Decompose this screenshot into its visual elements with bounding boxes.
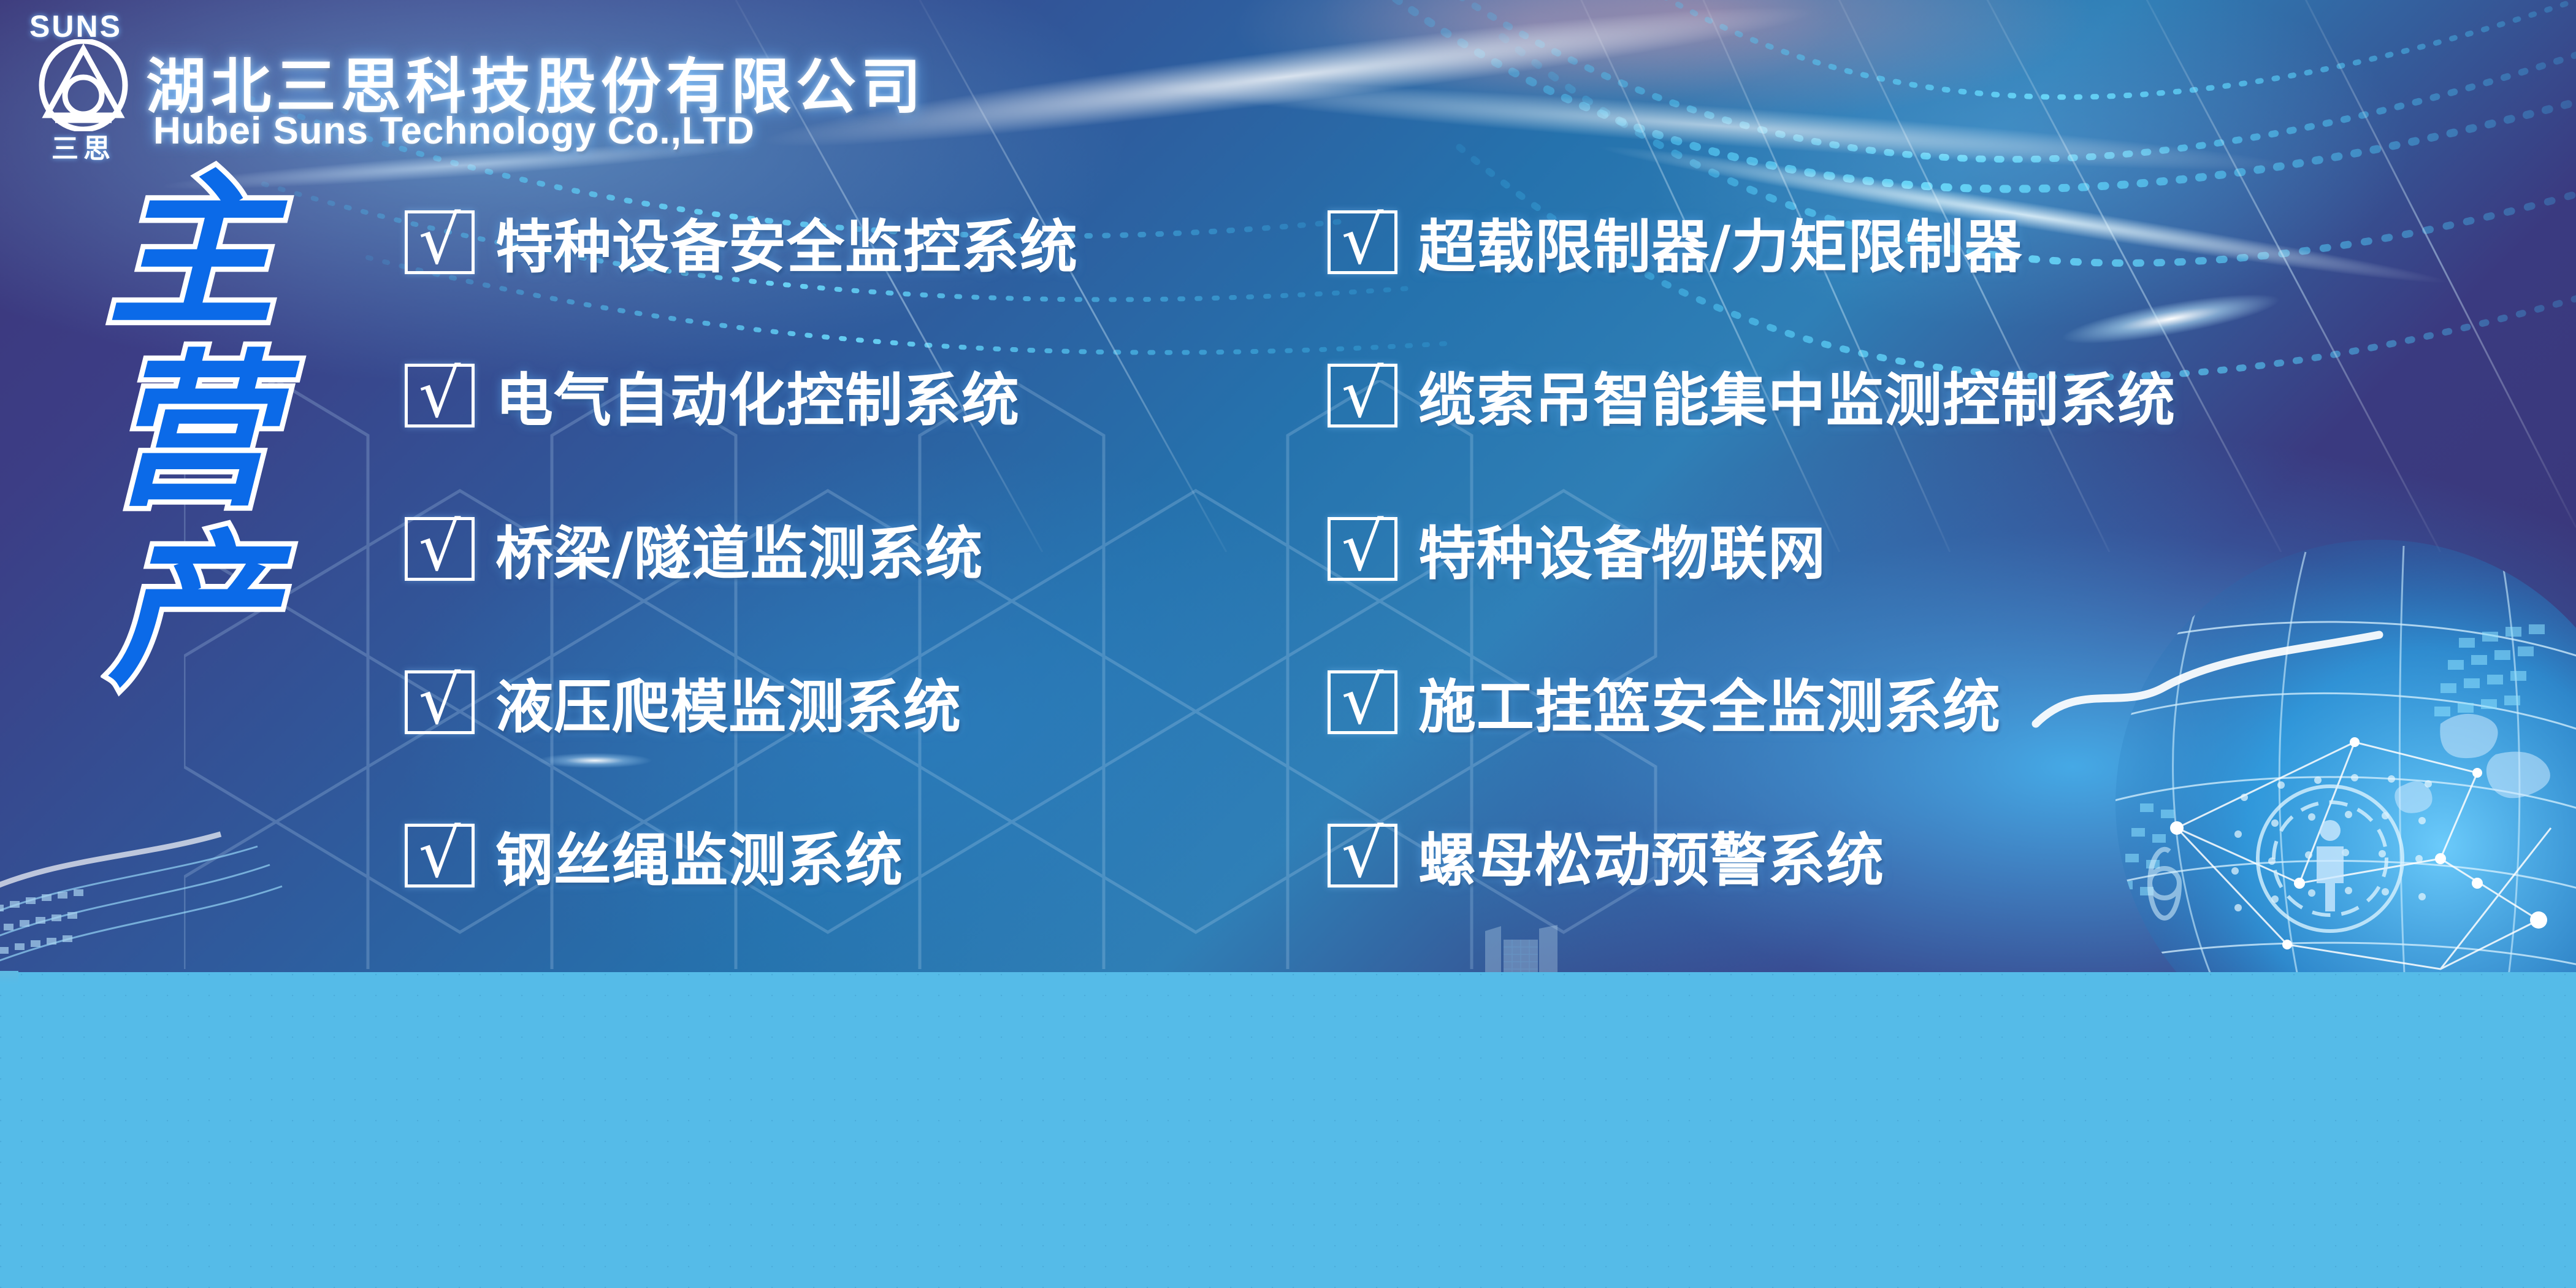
checkbox-checked-icon[interactable]: √ xyxy=(1328,517,1397,581)
list-item[interactable]: √ 螺母松动预警系统 xyxy=(1328,816,2176,895)
check-glyph: √ xyxy=(419,668,461,734)
product-label: 特种设备物联网 xyxy=(1418,507,1826,591)
product-label: 钢丝绳监测系统 xyxy=(495,814,903,897)
product-label: 缆索吊智能集中监测控制系统 xyxy=(1418,354,2176,437)
checkbox-checked-icon[interactable]: √ xyxy=(1328,364,1397,427)
list-item[interactable]: √ 特种设备物联网 xyxy=(1328,509,2176,589)
list-item[interactable]: √ 电气自动化控制系统 xyxy=(405,356,1078,435)
banner-page: SUNS 三思 湖北三思科技股份有限公司 Hubei Suns Technolo… xyxy=(0,0,2576,1288)
headline-char-3: 产 xyxy=(108,532,365,692)
check-glyph: √ xyxy=(1342,208,1384,274)
checkbox-checked-icon[interactable]: √ xyxy=(405,824,475,887)
product-label: 液压爬模监测系统 xyxy=(495,661,961,744)
check-glyph: √ xyxy=(419,361,461,427)
check-glyph: √ xyxy=(1342,668,1384,734)
list-item[interactable]: √ 超载限制器/力矩限制器 xyxy=(1328,202,2176,282)
list-item[interactable]: √ 特种设备安全监控系统 xyxy=(405,202,1078,282)
product-list-right: √ 超载限制器/力矩限制器 √ 缆索吊智能集中监测控制系统 √ 特种设备物联网 … xyxy=(1328,202,2176,969)
check-glyph: √ xyxy=(1342,515,1384,581)
checkbox-checked-icon[interactable]: √ xyxy=(1328,824,1397,887)
headline-vertical: 主 营 产 xyxy=(108,173,365,692)
checkbox-checked-icon[interactable]: √ xyxy=(405,670,475,734)
headline-char-2: 营 xyxy=(108,353,365,513)
checkbox-checked-icon[interactable]: √ xyxy=(1328,670,1397,734)
checkbox-checked-icon[interactable]: √ xyxy=(405,364,475,427)
hero-banner: SUNS 三思 湖北三思科技股份有限公司 Hubei Suns Technolo… xyxy=(0,0,2576,972)
list-item[interactable]: √ 施工挂篮安全监测系统 xyxy=(1328,662,2176,742)
check-glyph: √ xyxy=(1342,821,1384,887)
product-label: 电气自动化控制系统 xyxy=(495,354,1020,437)
product-label: 桥梁/隧道监测系统 xyxy=(495,507,983,591)
headline-char-1: 主 xyxy=(108,173,365,333)
product-label: 特种设备安全监控系统 xyxy=(495,201,1078,284)
lower-background-field xyxy=(0,932,2576,1288)
checkbox-checked-icon[interactable]: √ xyxy=(405,210,475,274)
product-label: 施工挂篮安全监测系统 xyxy=(1418,661,2001,744)
check-glyph: √ xyxy=(1342,361,1384,427)
list-item[interactable]: √ 钢丝绳监测系统 xyxy=(405,816,1078,895)
list-item[interactable]: √ 液压爬模监测系统 xyxy=(405,662,1078,742)
product-label: 超载限制器/力矩限制器 xyxy=(1418,201,2022,284)
check-glyph: √ xyxy=(419,515,461,581)
suns-triangle-circle-logo-icon xyxy=(34,39,132,131)
company-logo: SUNS 三思 xyxy=(17,5,152,164)
check-glyph: √ xyxy=(419,208,461,274)
product-list-left: √ 特种设备安全监控系统 √ 电气自动化控制系统 √ 桥梁/隧道监测系统 √ 液… xyxy=(405,202,1078,969)
checkbox-checked-icon[interactable]: √ xyxy=(1328,210,1397,274)
product-label: 螺母松动预警系统 xyxy=(1418,814,1884,897)
banner-left-edge-tail xyxy=(0,971,18,984)
checkbox-checked-icon[interactable]: √ xyxy=(405,517,475,581)
company-name-en: Hubei Suns Technology Co.,LTD xyxy=(153,109,755,153)
check-glyph: √ xyxy=(419,821,461,887)
list-item[interactable]: √ 缆索吊智能集中监测控制系统 xyxy=(1328,356,2176,435)
list-item[interactable]: √ 桥梁/隧道监测系统 xyxy=(405,509,1078,589)
